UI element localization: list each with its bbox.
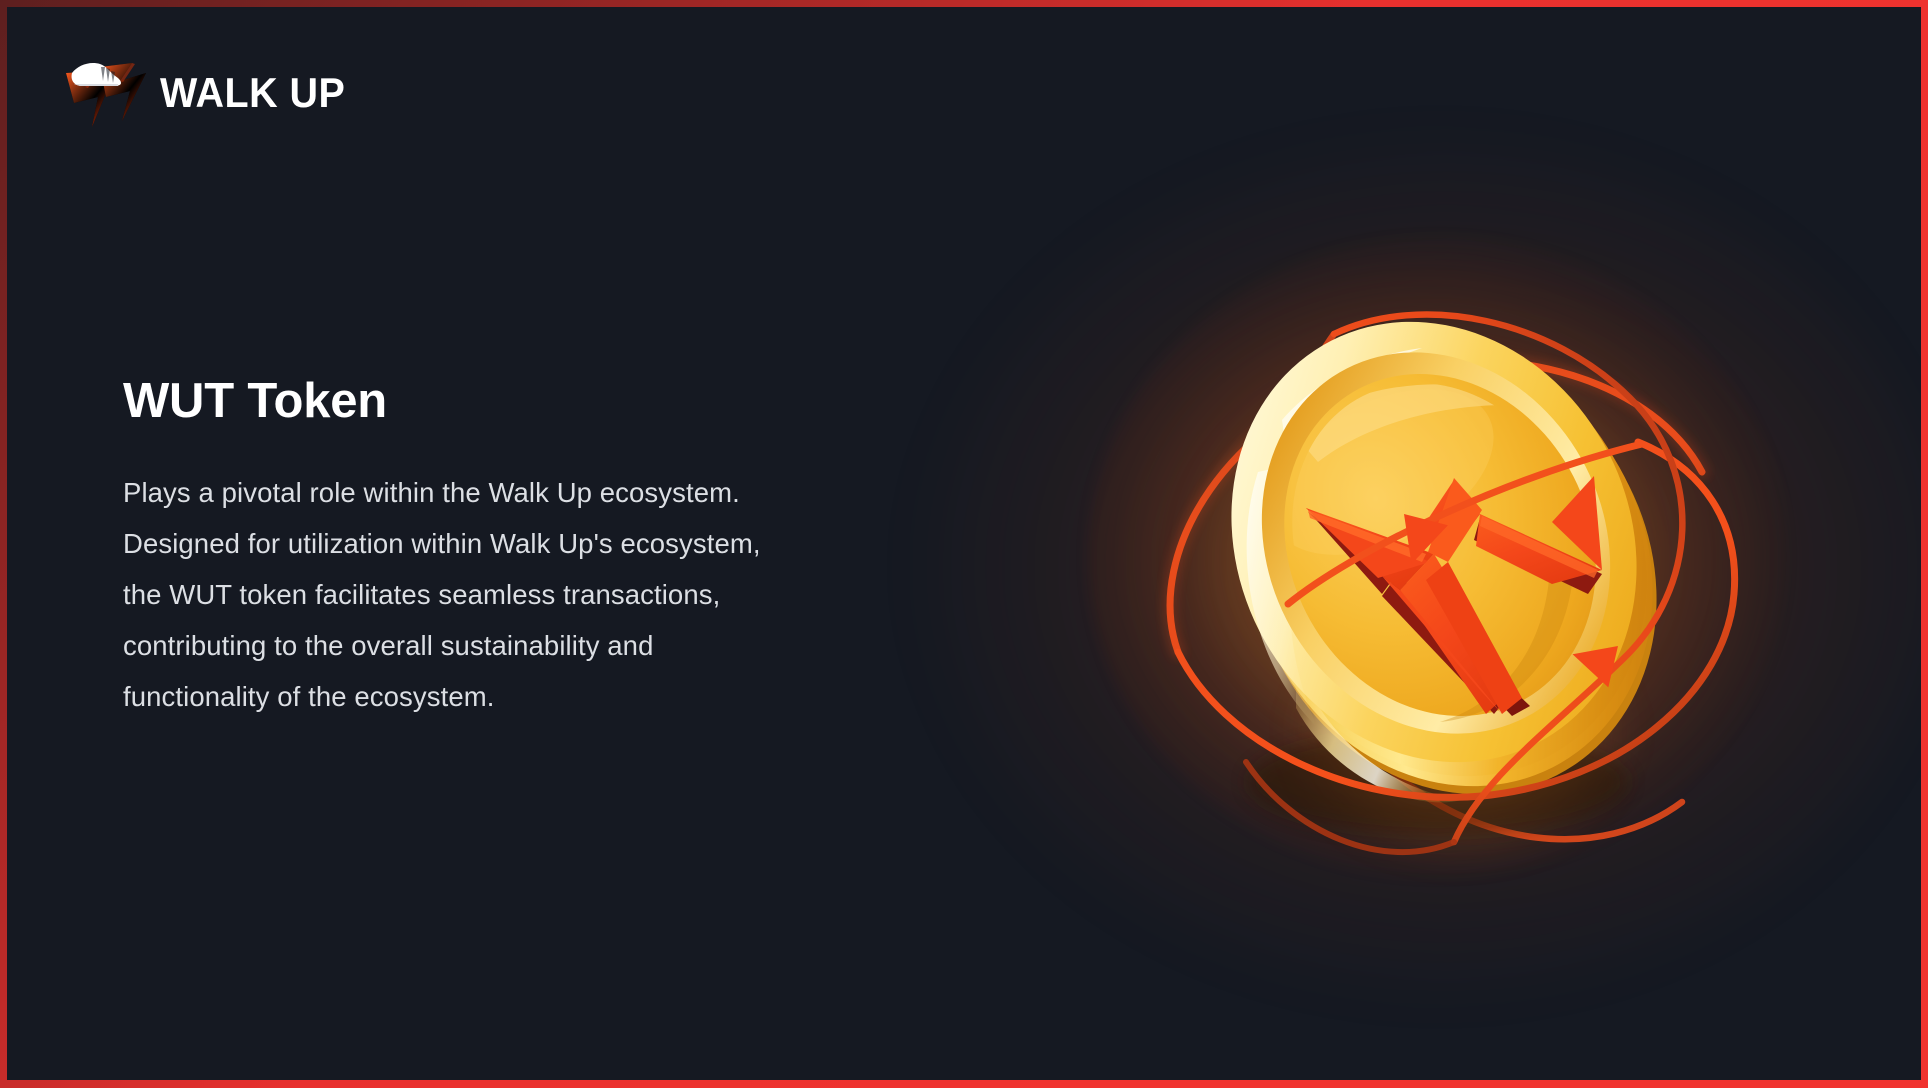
poster-stage: WALK UP WUT Token Plays a pivotal role w… bbox=[7, 7, 1921, 1080]
shoe-lightning-bolt-icon bbox=[62, 57, 174, 129]
paragraph-line: contributing to the overall sustainabili… bbox=[123, 620, 983, 671]
paragraph-line: functionality of the ecosystem. bbox=[123, 671, 983, 722]
wut-token-coin-illustration bbox=[1082, 222, 1772, 882]
page-title: WUT Token bbox=[123, 375, 983, 429]
paragraph-line: Designed for utilization within Walk Up'… bbox=[123, 518, 983, 569]
paragraph-line: the WUT token facilitates seamless trans… bbox=[123, 569, 983, 620]
copy-block: WUT Token Plays a pivotal role within th… bbox=[123, 375, 983, 722]
body-paragraph: Plays a pivotal role within the Walk Up … bbox=[123, 467, 983, 722]
brand-wordmark: WALK UP bbox=[160, 72, 345, 114]
brand-logo[interactable]: WALK UP bbox=[62, 57, 357, 129]
paragraph-line: Plays a pivotal role within the Walk Up … bbox=[123, 467, 983, 518]
poster-frame: WALK UP WUT Token Plays a pivotal role w… bbox=[0, 0, 1928, 1088]
